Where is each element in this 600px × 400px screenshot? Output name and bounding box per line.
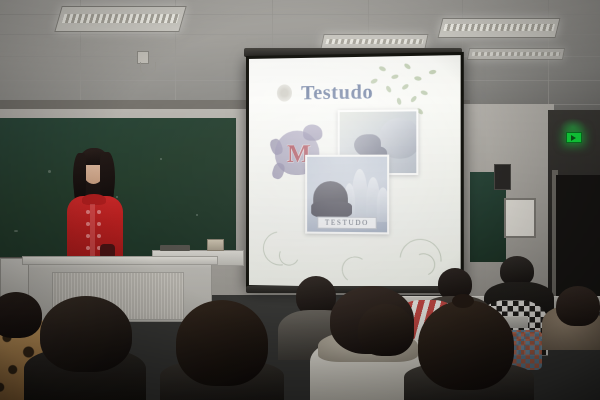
ceiling-light-fixture	[438, 18, 561, 38]
ceiling-light-fixture	[54, 6, 186, 32]
slide-title: Testudo	[301, 81, 373, 105]
lectern-top	[22, 256, 218, 265]
desk-object	[160, 245, 190, 251]
projector-screen[interactable]: Testudo M	[246, 52, 464, 292]
wall-speaker	[494, 164, 511, 190]
ponytail	[452, 294, 474, 308]
audience-long-hair-head	[176, 300, 268, 386]
audience-short-hair-head	[40, 296, 132, 372]
statue-plaque: TESTUDO	[317, 217, 376, 230]
presentation-slide: Testudo M	[249, 55, 461, 289]
ceiling-light-fixture	[320, 34, 428, 49]
doorway	[556, 175, 600, 303]
testudo-statue-photo: TESTUDO	[305, 155, 389, 235]
notice-board	[504, 198, 536, 238]
slide-emblem-icon	[277, 84, 292, 101]
audience-mid-right-head	[358, 304, 414, 356]
audience-ponytail-right-head	[418, 300, 514, 390]
exit-sign	[566, 132, 582, 143]
audience-head-far-right	[556, 286, 600, 326]
cardboard-box	[207, 239, 224, 251]
lecture-hall-photo: Testudo M	[0, 0, 600, 400]
plaque-text: TESTUDO	[325, 219, 369, 227]
ceiling-light-fixture	[467, 48, 565, 60]
presenter	[62, 148, 128, 266]
exit-arrow-icon	[571, 135, 576, 141]
